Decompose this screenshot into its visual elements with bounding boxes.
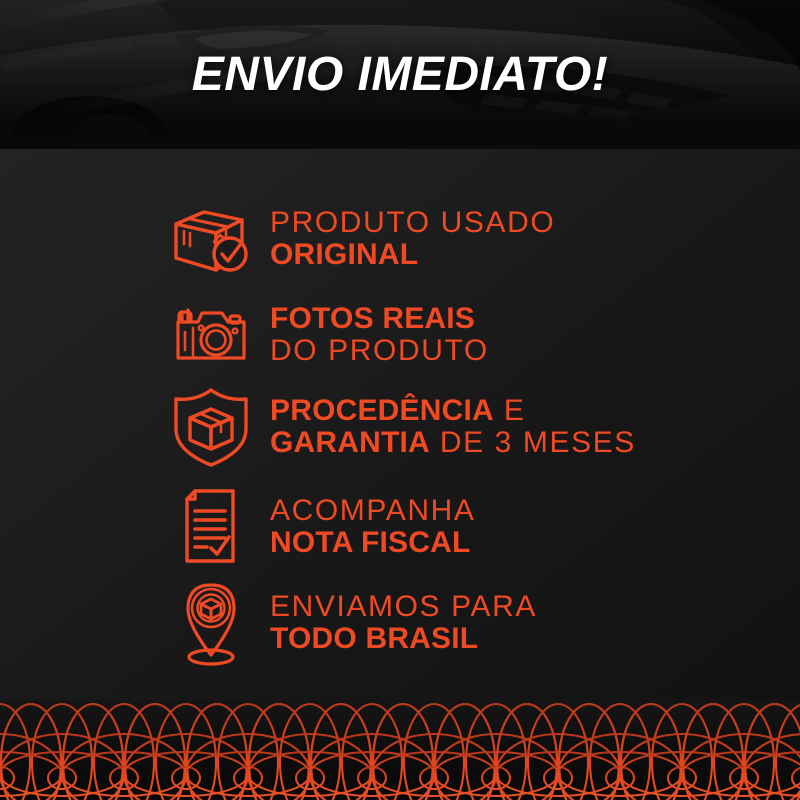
features-list: PRODUTO USADO ORIGINAL [0,149,800,709]
feature-label: ENVIAMOS PARA TODO BRASIL [270,591,537,655]
feature-label: PROCEDÊNCIA E GARANTIA DE 3 MESES [270,395,636,459]
feature-line-2: NOTA FISCAL [270,527,476,559]
camera-icon [166,290,256,380]
feature-line-2: GARANTIA DE 3 MESES [270,427,636,459]
feature-line-1: FOTOS REAIS [270,303,489,335]
feature-line-2: DO PRODUTO [270,335,489,367]
interlaced-ellipse-border [0,700,800,800]
feature-line-2-bold: GARANTIA [270,426,430,459]
feature-line-1: ENVIAMOS PARA [270,591,537,623]
feature-line-1: ACOMPANHA [270,495,476,527]
feature-label: PRODUTO USADO ORIGINAL [270,207,555,271]
feature-line-1: PROCEDÊNCIA E [270,395,636,427]
banner-title: ENVIO IMEDIATO! [0,0,800,149]
feature-label: FOTOS REAIS DO PRODUTO [270,303,489,367]
box-check-icon [166,194,256,284]
location-pin-box-icon [166,578,256,668]
feature-line-1-bold: PROCEDÊNCIA [270,394,494,427]
feature-line-2: ORIGINAL [270,239,555,271]
hero-banner: ENVIO IMEDIATO! [0,0,800,149]
feature-row: PRODUTO USADO ORIGINAL [0,191,800,287]
shield-box-icon [166,382,256,472]
footer-pattern [0,700,800,800]
feature-line-1: PRODUTO USADO [270,207,555,239]
feature-line-1-thin: E [494,394,526,427]
feature-label: ACOMPANHA NOTA FISCAL [270,495,476,559]
feature-row: ENVIAMOS PARA TODO BRASIL [0,575,800,671]
invoice-check-icon [166,482,256,572]
feature-line-2-thin: DE 3 MESES [430,426,636,459]
feature-row: PROCEDÊNCIA E GARANTIA DE 3 MESES [0,379,800,475]
feature-row: ACOMPANHA NOTA FISCAL [0,479,800,575]
feature-line-2: TODO BRASIL [270,623,537,655]
feature-row: FOTOS REAIS DO PRODUTO [0,287,800,383]
